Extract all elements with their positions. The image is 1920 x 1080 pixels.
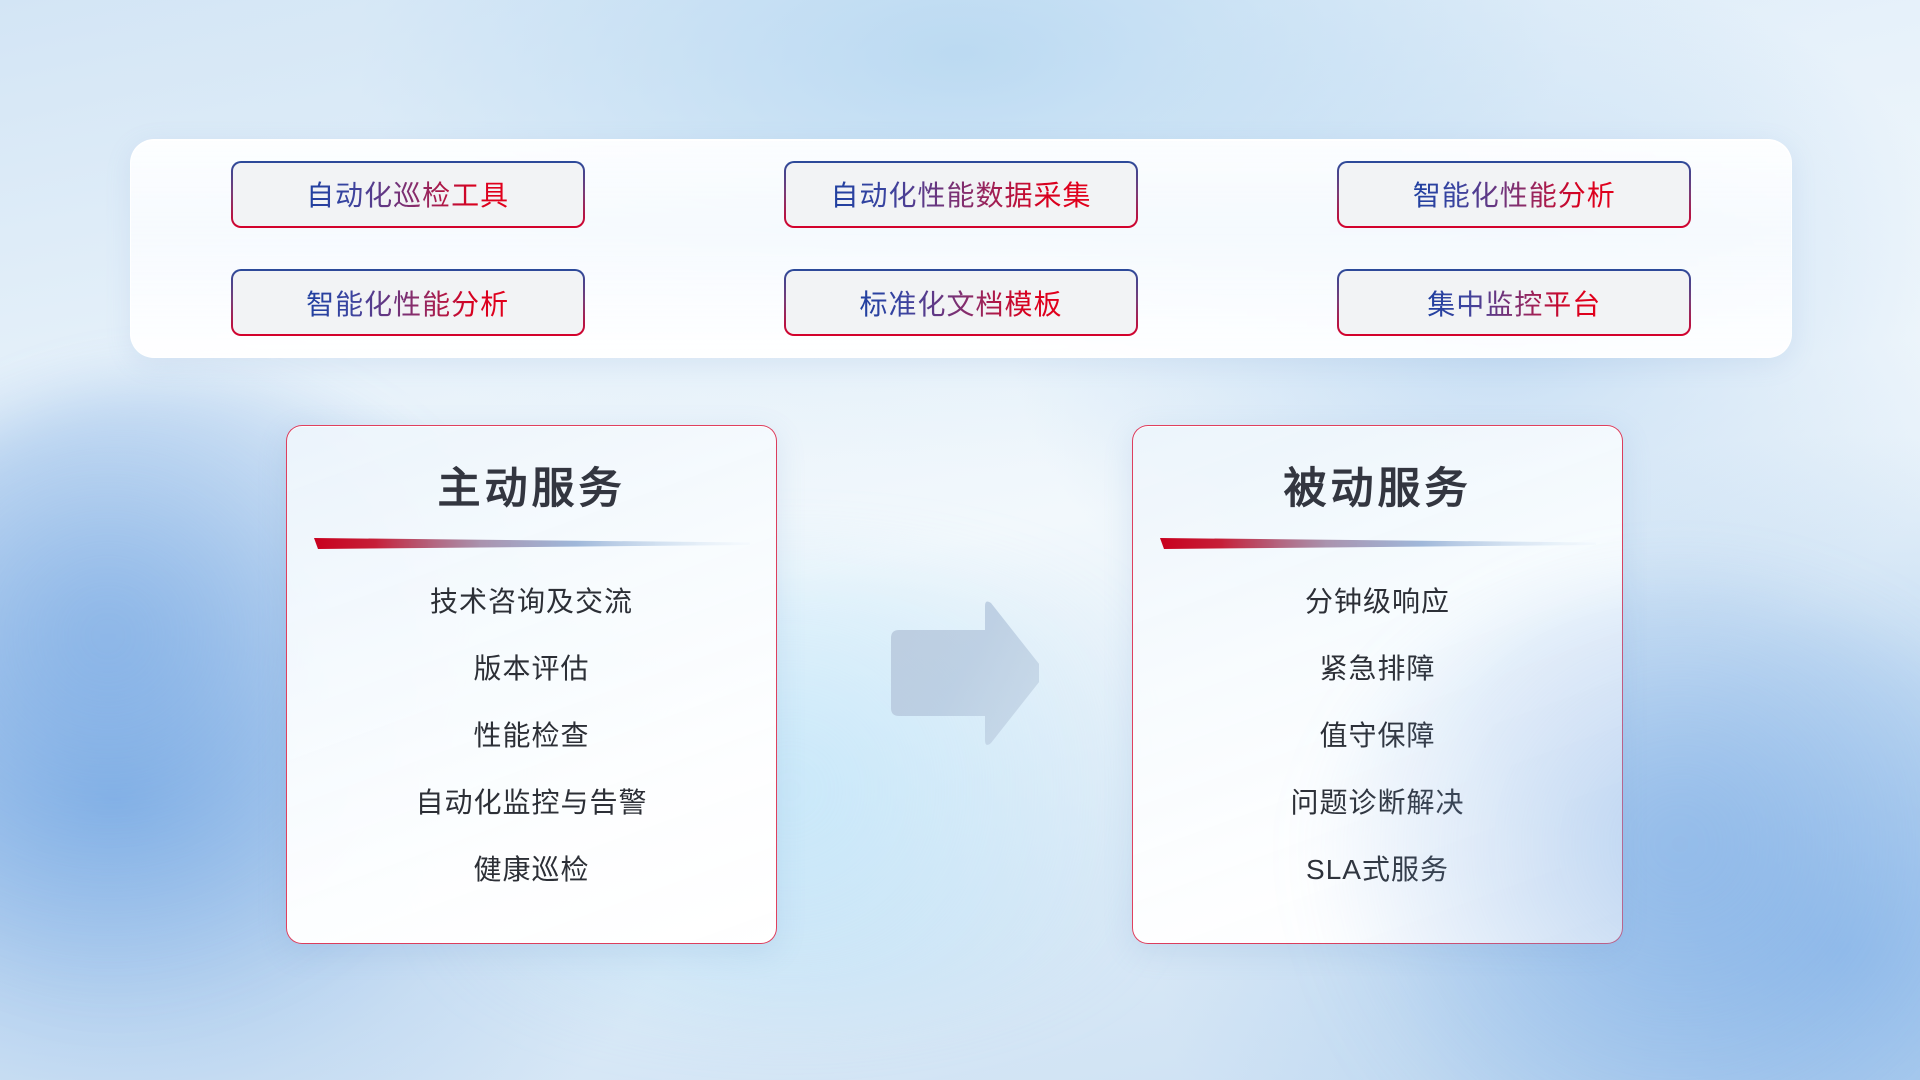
capability-tag-3-label: 智能化性能分析 [1413, 174, 1616, 214]
service-card-proactive[interactable]: 主动服务 技术咨询及交流 版本评估 性能检查 [286, 425, 777, 944]
service-card-proactive-list: 技术咨询及交流 版本评估 性能检查 自动化监控与告警 健康巡检 [287, 580, 776, 888]
capability-tag-4-label: 智能化性能分析 [306, 283, 509, 323]
list-item: 健康巡检 [473, 848, 589, 888]
capability-tag-6-inner: 集中监控平台 [1339, 271, 1689, 334]
slide-canvas: 自动化巡检工具 自动化性能数据采集 智能化性能分析 智能化性能分析 [0, 0, 1920, 1080]
list-item: 性能检查 [473, 714, 589, 754]
capability-tag-2-inner: 自动化性能数据采集 [786, 163, 1136, 226]
list-item: 紧急排障 [1319, 647, 1435, 687]
list-item: 技术咨询及交流 [430, 580, 633, 620]
capability-tags-grid: 自动化巡检工具 自动化性能数据采集 智能化性能分析 智能化性能分析 [131, 140, 1791, 357]
list-item: 值守保障 [1319, 714, 1435, 754]
capability-tag-2[interactable]: 自动化性能数据采集 [784, 161, 1138, 228]
service-card-proactive-title: 主动服务 [287, 454, 776, 516]
service-card-reactive[interactable]: 被动服务 分钟级响应 紧急排障 值守保障 [1132, 425, 1623, 944]
capability-tag-6[interactable]: 集中监控平台 [1337, 269, 1691, 336]
capability-tag-2-label: 自动化性能数据采集 [830, 174, 1091, 214]
service-card-reactive-title: 被动服务 [1133, 454, 1622, 516]
capability-tag-5-inner: 标准化文档模板 [786, 271, 1136, 334]
service-card-reactive-divider [1160, 536, 1596, 550]
service-card-proactive-divider [314, 536, 750, 550]
capability-tag-4[interactable]: 智能化性能分析 [231, 269, 585, 336]
capability-tag-1-label: 自动化巡检工具 [306, 174, 509, 214]
capability-tag-3-inner: 智能化性能分析 [1339, 163, 1689, 226]
service-card-reactive-list: 分钟级响应 紧急排障 值守保障 问题诊断解决 SLA式服务 [1133, 580, 1622, 888]
capability-tag-5-label: 标准化文档模板 [859, 283, 1062, 323]
capability-tag-6-label: 集中监控平台 [1427, 283, 1601, 323]
list-item: 分钟级响应 [1305, 580, 1450, 620]
list-item: 版本评估 [473, 647, 589, 687]
list-item: 问题诊断解决 [1290, 781, 1464, 821]
arrow-right-icon [883, 600, 1039, 745]
list-item: SLA式服务 [1306, 848, 1449, 888]
capability-tag-4-inner: 智能化性能分析 [233, 271, 583, 334]
capability-tag-3[interactable]: 智能化性能分析 [1337, 161, 1691, 228]
capability-tags-panel: 自动化巡检工具 自动化性能数据采集 智能化性能分析 智能化性能分析 [130, 139, 1792, 358]
capability-tag-5[interactable]: 标准化文档模板 [784, 269, 1138, 336]
capability-tag-1-inner: 自动化巡检工具 [233, 163, 583, 226]
list-item: 自动化监控与告警 [415, 781, 647, 821]
capability-tag-1[interactable]: 自动化巡检工具 [231, 161, 585, 228]
